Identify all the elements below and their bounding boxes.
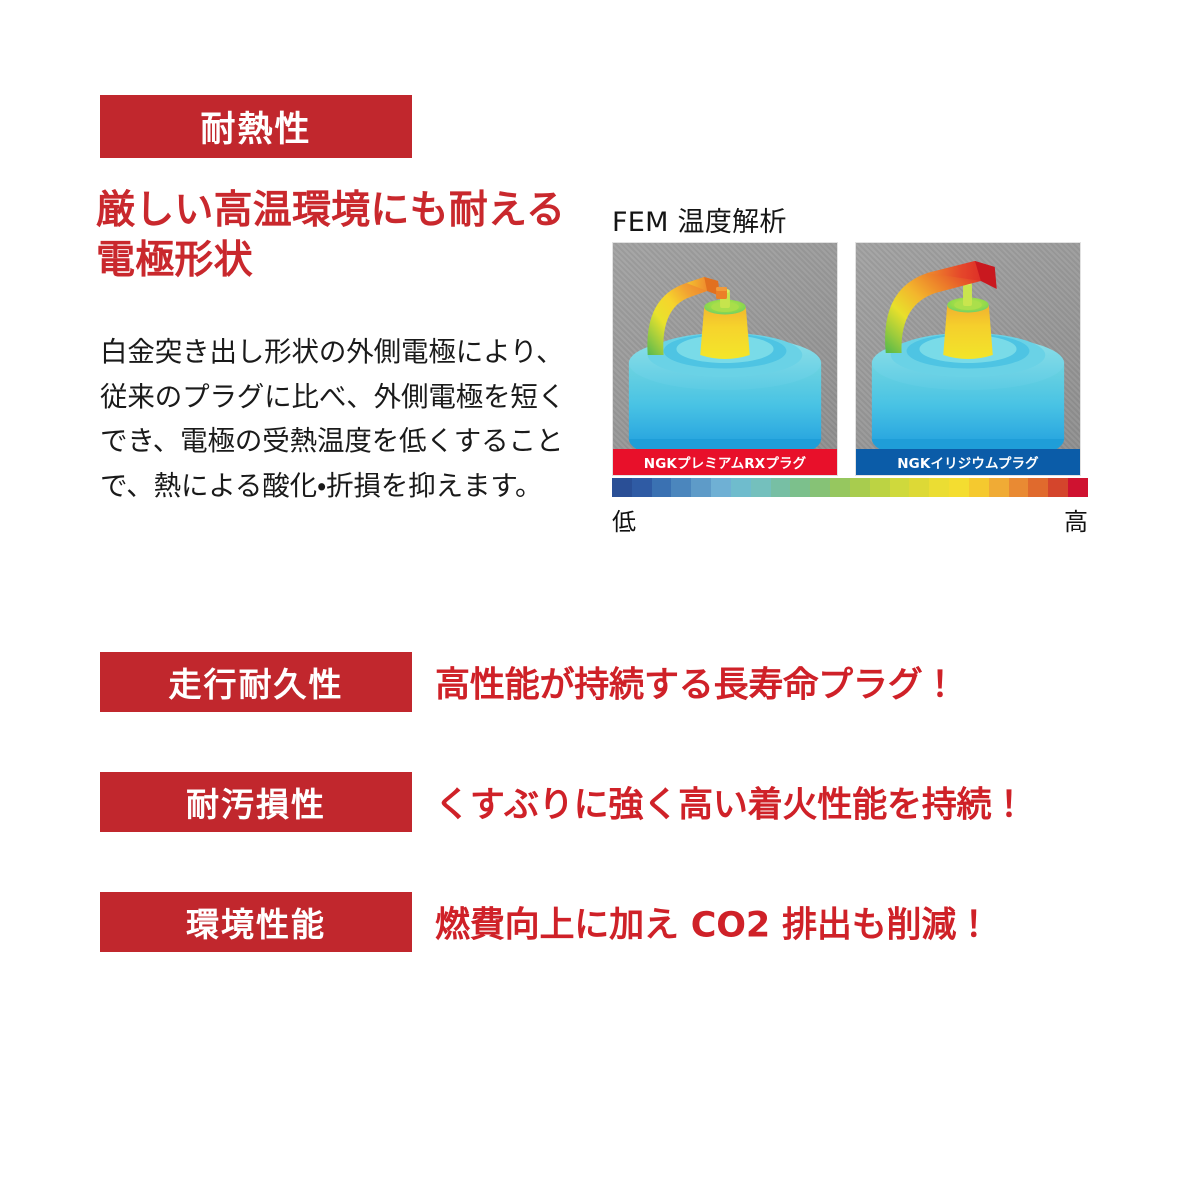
heat-section-heading: 厳しい高温環境にも耐える 電極形状 bbox=[96, 186, 596, 286]
fem-analysis-figure: NGKプレミアムRXプラグ bbox=[612, 242, 1088, 476]
feature-badge-fouling-resistance: 耐汚損性 bbox=[100, 772, 412, 832]
scale-segment-23 bbox=[1068, 478, 1088, 497]
scale-segment-3 bbox=[671, 478, 691, 497]
fem-panel-caption-iridium: NGKイリジウムプラグ bbox=[856, 449, 1080, 475]
fem-panel-premium-rx: NGKプレミアムRXプラグ bbox=[612, 242, 838, 476]
feature-row-fouling-resistance: 耐汚損性 くすぶりに強く高い着火性能を持続！ bbox=[100, 772, 1100, 832]
scale-segment-4 bbox=[691, 478, 711, 497]
fem-thermal-image-premium-rx bbox=[613, 243, 837, 449]
feature-row-environmental-performance: 環境性能 燃費向上に加え CO2 排出も削減！ bbox=[100, 892, 1100, 952]
fem-panel-iridium: NGKイリジウムプラグ bbox=[855, 242, 1081, 476]
infographic-page: 耐熱性 厳しい高温環境にも耐える 電極形状 白金突き出し形状の外側電極により、 … bbox=[0, 0, 1200, 1200]
fem-analysis-title: FEM 温度解析 bbox=[612, 200, 787, 239]
feature-text-fouling-resistance: くすぶりに強く高い着火性能を持続！ bbox=[435, 777, 1026, 828]
heading-line-1: 厳しい高温環境にも耐える bbox=[96, 188, 565, 233]
spark-plug-thermal-render-icon bbox=[613, 243, 837, 449]
feature-badge-label: 走行耐久性 bbox=[169, 658, 344, 706]
scale-segment-21 bbox=[1028, 478, 1048, 497]
scale-segment-7 bbox=[751, 478, 771, 497]
section-badge-heat-resistance: 耐熱性 bbox=[100, 95, 412, 158]
scale-segment-8 bbox=[771, 478, 791, 497]
scale-segment-19 bbox=[989, 478, 1009, 497]
body-line-2: 従来のプラグに比べ、外側電極を短く bbox=[100, 375, 580, 420]
scale-segment-22 bbox=[1048, 478, 1068, 497]
heading-line-2: 電極形状 bbox=[96, 236, 596, 286]
scale-segment-16 bbox=[929, 478, 949, 497]
temperature-scale-bar bbox=[612, 478, 1088, 497]
feature-badge-driving-durability: 走行耐久性 bbox=[100, 652, 412, 712]
fem-panel-caption-premium-rx: NGKプレミアムRXプラグ bbox=[613, 449, 837, 475]
spark-plug-thermal-render-icon bbox=[856, 243, 1080, 449]
scale-segment-11 bbox=[830, 478, 850, 497]
scale-segment-9 bbox=[790, 478, 810, 497]
scale-segment-12 bbox=[850, 478, 870, 497]
body-line-1: 白金突き出し形状の外側電極により、 bbox=[100, 330, 580, 375]
body-line-4: で、熱による酸化・折損を抑えます。 bbox=[100, 464, 580, 509]
body-line-3: でき、電極の受熱温度を低くすること bbox=[100, 419, 580, 464]
fem-thermal-image-iridium bbox=[856, 243, 1080, 449]
scale-label-low: 低 bbox=[612, 502, 636, 537]
feature-row-driving-durability: 走行耐久性 高性能が持続する長寿命プラグ！ bbox=[100, 652, 1100, 712]
scale-segment-18 bbox=[969, 478, 989, 497]
scale-segment-14 bbox=[890, 478, 910, 497]
feature-badge-label: 耐汚損性 bbox=[186, 778, 326, 826]
feature-badge-environmental-performance: 環境性能 bbox=[100, 892, 412, 952]
scale-segment-2 bbox=[652, 478, 672, 497]
section-badge-label: 耐熱性 bbox=[200, 101, 311, 152]
feature-text-environmental-performance: 燃費向上に加え CO2 排出も削減！ bbox=[435, 897, 991, 948]
feature-badge-label: 環境性能 bbox=[186, 898, 326, 946]
scale-segment-17 bbox=[949, 478, 969, 497]
scale-label-high: 高 bbox=[1064, 502, 1088, 537]
scale-segment-5 bbox=[711, 478, 731, 497]
scale-segment-0 bbox=[612, 478, 632, 497]
scale-segment-10 bbox=[810, 478, 830, 497]
feature-text-driving-durability: 高性能が持続する長寿命プラグ！ bbox=[435, 657, 957, 708]
temperature-scale-labels: 低 高 bbox=[612, 502, 1088, 537]
heat-section-body-text: 白金突き出し形状の外側電極により、 従来のプラグに比べ、外側電極を短く でき、電… bbox=[100, 330, 580, 508]
scale-segment-15 bbox=[909, 478, 929, 497]
scale-segment-1 bbox=[632, 478, 652, 497]
scale-segment-20 bbox=[1009, 478, 1029, 497]
scale-segment-13 bbox=[870, 478, 890, 497]
scale-segment-6 bbox=[731, 478, 751, 497]
